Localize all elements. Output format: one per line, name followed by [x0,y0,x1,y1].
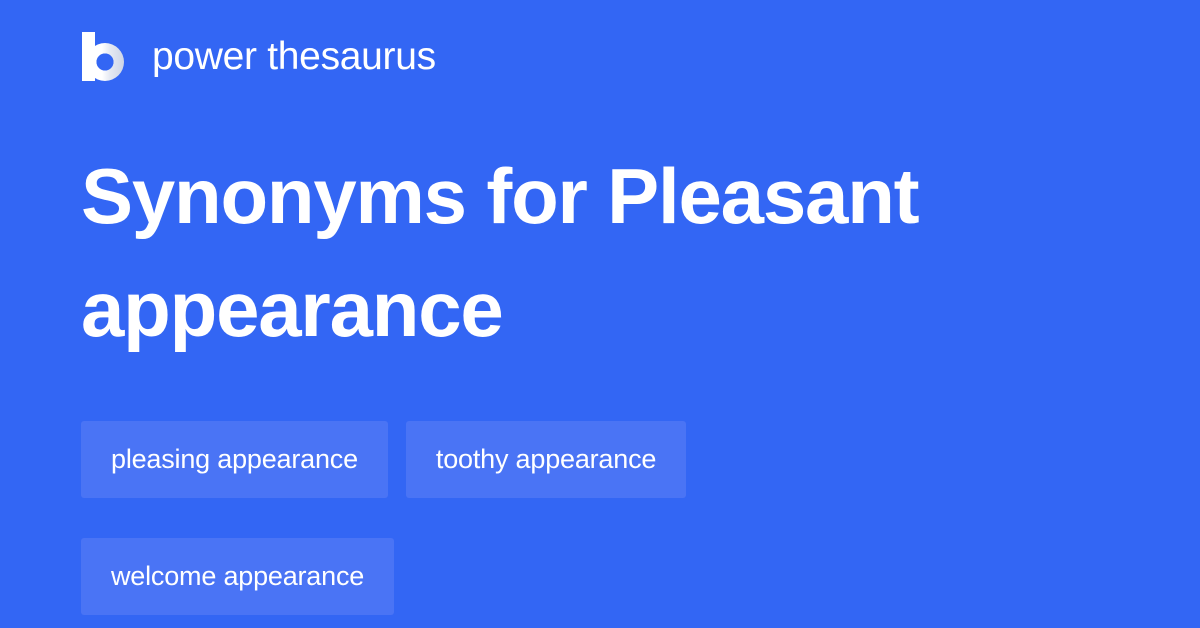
power-thesaurus-b-logo-icon [81,31,127,81]
share-card: power thesaurus Synonyms for Pleasant ap… [0,0,1200,628]
brand-header[interactable]: power thesaurus [81,28,436,84]
page-title: Synonyms for Pleasant appearance [81,140,1081,366]
synonym-chip-list: pleasing appearance toothy appearance we… [81,421,1121,615]
brand-name: power thesaurus [152,37,436,76]
synonym-chip[interactable]: toothy appearance [406,421,686,498]
synonym-chip[interactable]: pleasing appearance [81,421,388,498]
synonym-chip[interactable]: welcome appearance [81,538,394,615]
